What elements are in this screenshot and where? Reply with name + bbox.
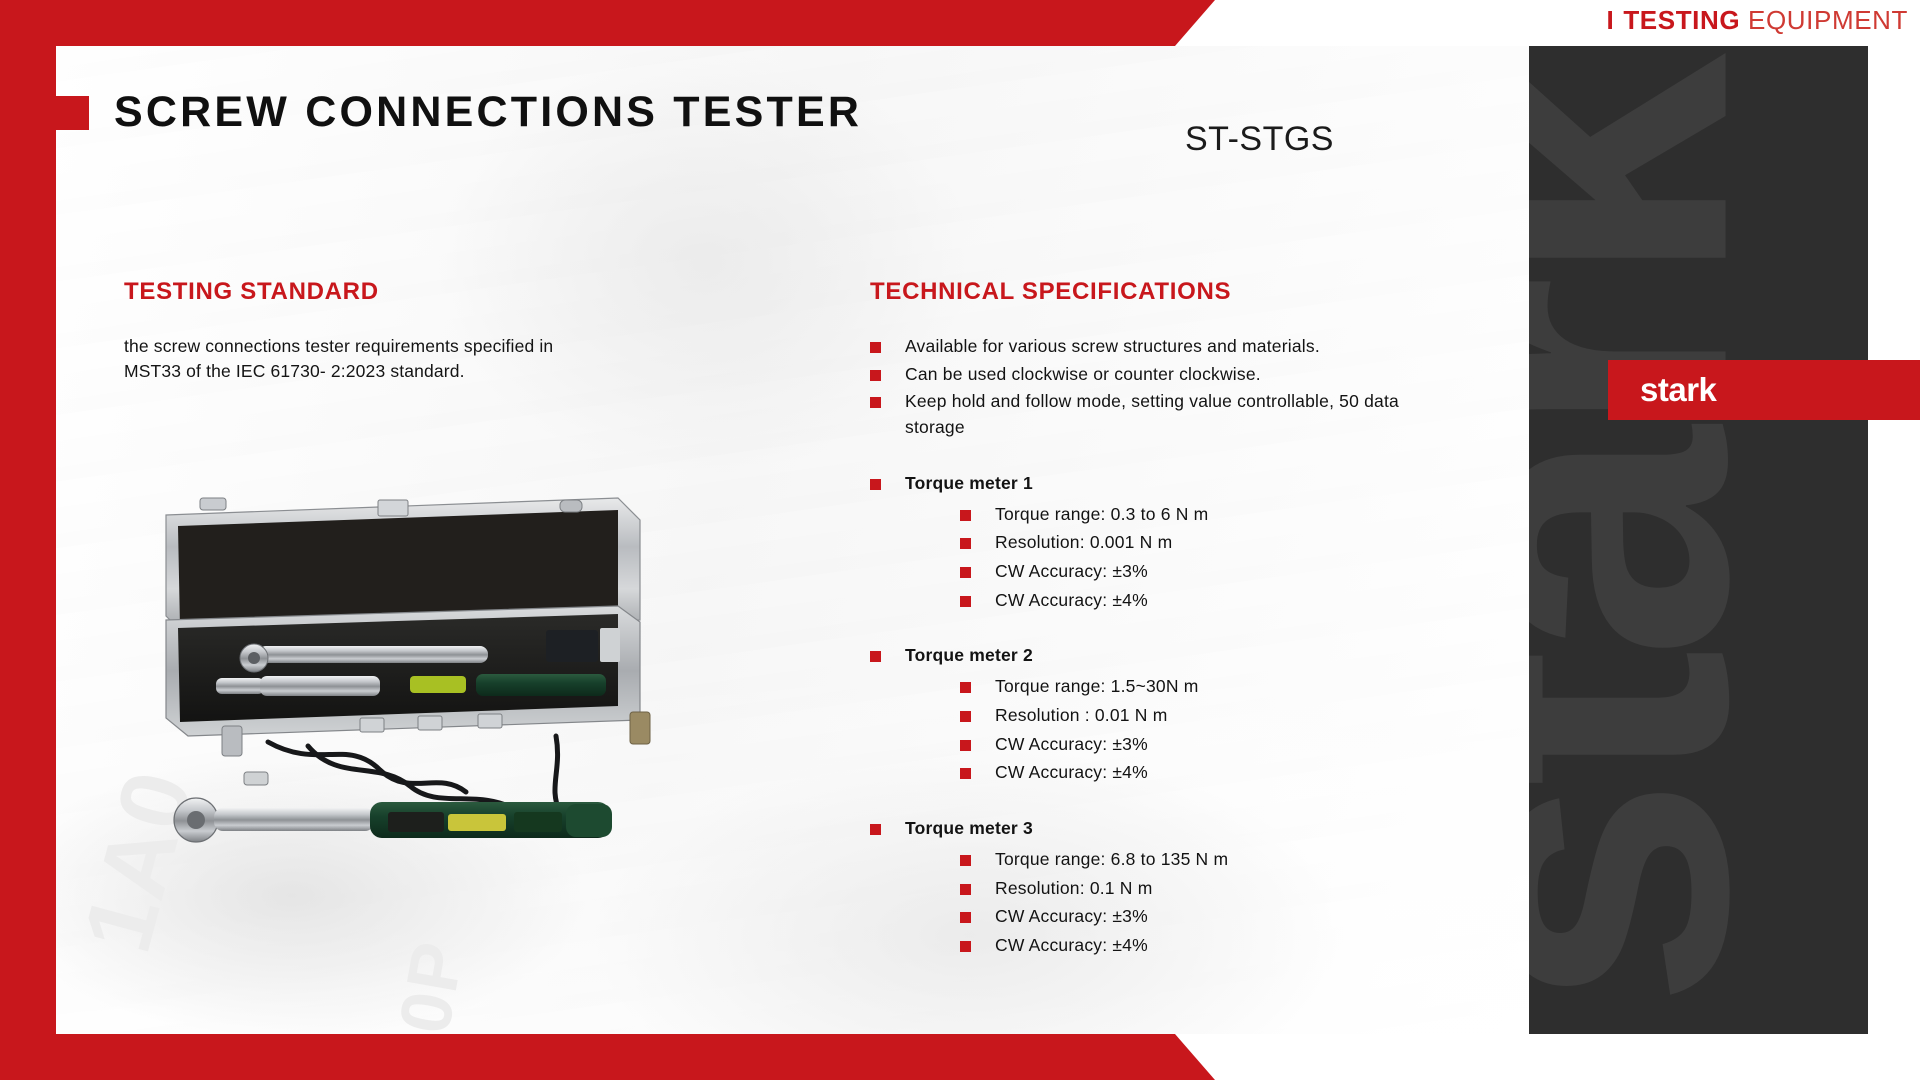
- red-top-band: [0, 0, 1215, 46]
- header-thin-word: [1740, 5, 1748, 35]
- product-image-svg: [148, 470, 748, 870]
- feature-list: Available for various screw structures a…: [870, 334, 1430, 441]
- red-bottom-band: [0, 1034, 1215, 1080]
- testing-standard-body: the screw connections tester requirement…: [124, 334, 684, 385]
- torque-meter-3-spec: CW Accuracy: ±4%: [870, 933, 1430, 959]
- torque-meter-2-group: Torque meter 2 Torque range: 1.5~30N m R…: [870, 643, 1430, 786]
- feature-item: Keep hold and follow mode, setting value…: [870, 389, 1430, 440]
- title-square-icon: [55, 96, 89, 130]
- page-title: SCREW CONNECTIONS TESTER: [114, 88, 862, 137]
- testing-standard-column: TESTING STANDARD the screw connections t…: [124, 278, 684, 385]
- model-number: ST-STGS: [1185, 120, 1334, 159]
- torque-meter-2-spec: CW Accuracy: ±3%: [870, 732, 1430, 758]
- stark-logo-band: stark: [1608, 360, 1920, 420]
- torque-meter-1-spec: Torque range: 0.3 to 6 N m: [870, 502, 1430, 528]
- feature-item: Can be used clockwise or counter clockwi…: [870, 362, 1430, 388]
- header-thin-word-text: EQUIPMENT: [1748, 5, 1908, 35]
- background-faint-text-2: 0P: [384, 935, 481, 1034]
- torque-meter-1-spec: CW Accuracy: ±3%: [870, 559, 1430, 585]
- header-bold-word: TESTING: [1623, 5, 1740, 35]
- torque-meter-1-title: Torque meter 1: [870, 471, 1430, 497]
- torque-meter-2-spec: Resolution : 0.01 N m: [870, 703, 1430, 729]
- torque-meter-3-spec: Resolution: 0.1 N m: [870, 876, 1430, 902]
- page-title-row: SCREW CONNECTIONS TESTER: [55, 88, 862, 137]
- torque-meter-1-group: Torque meter 1 Torque range: 0.3 to 6 N …: [870, 471, 1430, 614]
- product-image: [148, 470, 748, 870]
- torque-meter-2-title: Torque meter 2: [870, 643, 1430, 669]
- header-bar-glyph: I: [1607, 5, 1615, 35]
- torque-meter-3-group: Torque meter 3 Torque range: 6.8 to 135 …: [870, 816, 1430, 959]
- technical-specifications-heading: TECHNICAL SPECIFICATIONS: [870, 278, 1430, 306]
- torque-meter-3-spec: CW Accuracy: ±3%: [870, 904, 1430, 930]
- red-left-band: [0, 0, 56, 1080]
- torque-meter-2-spec: Torque range: 1.5~30N m: [870, 674, 1430, 700]
- torque-meter-1-spec: Resolution: 0.001 N m: [870, 530, 1430, 556]
- technical-specifications-column: TECHNICAL SPECIFICATIONS Available for v…: [870, 278, 1430, 962]
- torque-meter-3-title: Torque meter 3: [870, 816, 1430, 842]
- feature-item: Available for various screw structures a…: [870, 334, 1430, 360]
- stark-watermark-inner: stark: [1529, 65, 1823, 1009]
- header-category-label: ITESTING EQUIPMENT: [1607, 5, 1909, 36]
- torque-meter-3-spec: Torque range: 6.8 to 135 N m: [870, 847, 1430, 873]
- torque-meter-2-spec: CW Accuracy: ±4%: [870, 760, 1430, 786]
- testing-standard-line-2: MST33 of the IEC 61730- 2:2023 standard.: [124, 359, 684, 384]
- stark-logo-text: stark: [1640, 371, 1716, 409]
- slide-root: ITESTING EQUIPMENT 1A0 0P SCREW CONNECTI…: [0, 0, 1920, 1080]
- testing-standard-line-1: the screw connections tester requirement…: [124, 334, 684, 359]
- right-dark-panel: stark: [1529, 46, 1868, 1034]
- testing-standard-heading: TESTING STANDARD: [124, 278, 684, 306]
- torque-meter-1-spec: CW Accuracy: ±4%: [870, 588, 1430, 614]
